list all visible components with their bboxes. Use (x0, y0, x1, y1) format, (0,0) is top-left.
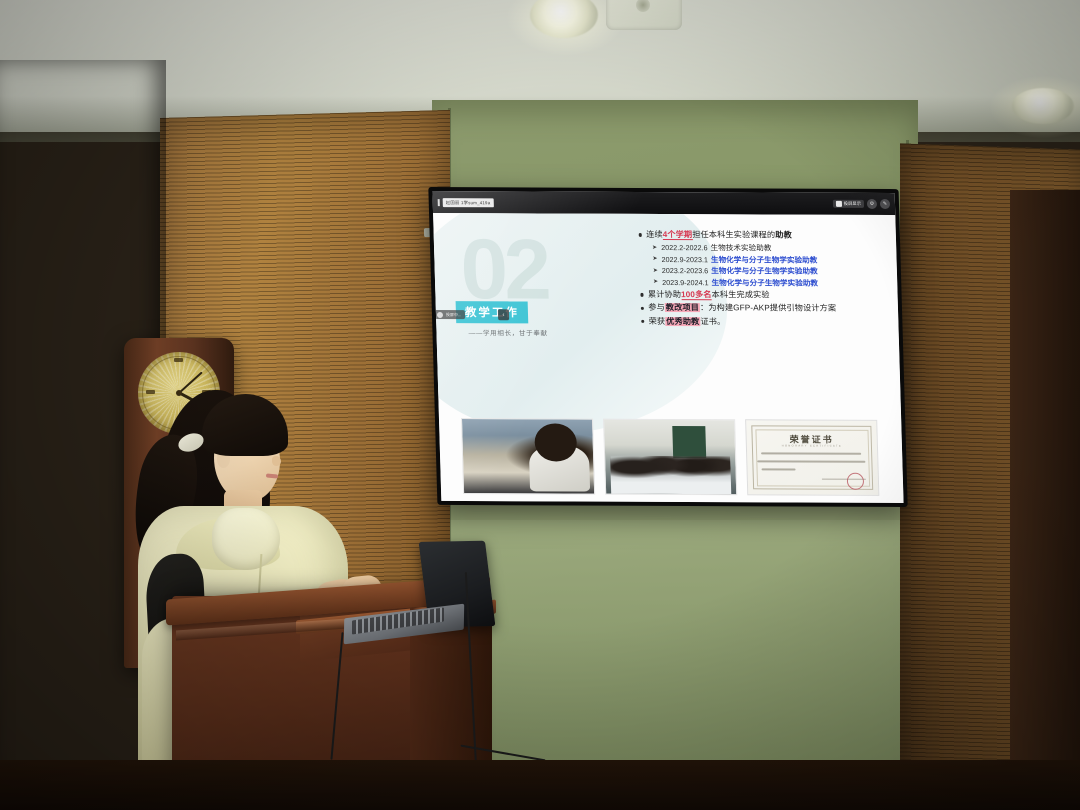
bullet-dot-icon (640, 293, 643, 296)
cast-status-label: 投屏中... (446, 312, 461, 317)
menu-icon[interactable] (438, 199, 440, 206)
certificate-seal-icon (847, 473, 864, 490)
arrow-icon: ➤ (652, 256, 657, 263)
dark-wood-panel-right (1010, 190, 1080, 810)
bullet-pre: 参与 (648, 303, 665, 312)
bullet-item: 参与教改项目：为构建GFP-AKP提供引物设计方案 (641, 303, 899, 314)
bullet-text: 荣获优秀助教证书。 (649, 317, 726, 327)
sub-bullet-item: ➤ 2022.2-2022.6 生物技术实验助教 (652, 243, 897, 253)
sub-bullet-course: 生物化学与分子生物学实验助教 (711, 255, 818, 264)
cast-icon (437, 312, 443, 318)
bullet-post: 担任本科生实验课程的 (692, 230, 775, 239)
presenter-collar (212, 508, 280, 570)
arrow-icon: ➤ (653, 268, 658, 275)
photo-strip: 荣誉证书 HONORARY CERTIFICATE (461, 418, 879, 496)
cast-status-overlay[interactable]: 投屏中... (433, 310, 465, 319)
sub-bullet-date: 2022.2-2022.6 (661, 243, 708, 252)
bullet-text: 累计协助100多名本科生完成实验 (648, 290, 770, 301)
display-screen[interactable]: 赵国丽 1学sum_419a 投屏显示 ⚙ ✎ 02 教学工作 ——学用相长，甘… (432, 191, 903, 503)
bullet-post: 证书。 (700, 317, 725, 326)
wall-display[interactable]: 赵国丽 1学sum_419a 投屏显示 ⚙ ✎ 02 教学工作 ——学用相长，甘… (428, 187, 907, 507)
sub-bullet-item: ➤ 2023.2-2023.6 生物化学与分子生物学实验助教 (653, 266, 898, 276)
slide-canvas: 02 教学工作 ——学用相长，甘于奉献 连续4个学期担任本科生实验课程的助教 ➤… (433, 213, 904, 503)
sub-bullet-date: 2022.9-2023.1 (661, 255, 708, 264)
bullet-dot-icon (641, 307, 644, 310)
bullet-item: 累计协助100多名本科生完成实验 (640, 290, 898, 301)
bullet-pre: 累计协助 (648, 290, 681, 299)
bullet-post: ：为构建GFP-AKP提供引物设计方案 (700, 304, 836, 314)
chevron-left-icon: ‹ (502, 312, 504, 318)
bullet-highlight: 4个学期 (663, 230, 693, 240)
arrow-icon: ➤ (652, 245, 657, 252)
presenter-nose (272, 456, 281, 466)
clock-marker (174, 358, 183, 362)
sub-bullet-course: 生物技术实验助教 (710, 244, 771, 253)
certificate-subtitle: HONORARY CERTIFICATE (747, 444, 877, 448)
floor (0, 760, 1080, 810)
prev-slide-button[interactable]: ‹ (498, 309, 509, 320)
gear-icon[interactable]: ⚙ (867, 199, 877, 209)
cast-button-label: 投屏显示 (844, 201, 861, 207)
sub-bullet-list: ➤ 2022.2-2022.6 生物技术实验助教 ➤ 2022.9-2023.1… (652, 243, 898, 288)
certificate-text-line (762, 468, 796, 470)
presentation-room-photo: 赵国丽 1学sum_419a 投屏显示 ⚙ ✎ 02 教学工作 ——学用相长，甘… (0, 0, 1080, 810)
bullet-tail: 助教 (775, 231, 792, 240)
bullet-highlight: 教改项目 (665, 303, 700, 312)
ceiling-light-square-icon (606, 0, 682, 30)
photo-lab (461, 418, 595, 495)
bullet-text: 参与教改项目：为构建GFP-AKP提供引物设计方案 (648, 303, 836, 314)
sub-bullet-date: 2023.9-2024.1 (662, 278, 709, 287)
bullet-pre: 荣获 (649, 317, 666, 326)
photo-certificate: 荣誉证书 HONORARY CERTIFICATE (745, 419, 879, 496)
sub-bullet-course: 生物化学与分子生物学实验助教 (711, 278, 818, 287)
bullet-post: 本科生完成实验 (711, 290, 769, 299)
bullet-text: 连续4个学期担任本科生实验课程的助教 (646, 230, 792, 241)
section-tag: 教学工作 (456, 301, 529, 323)
file-name-label: 赵国丽 1学sum_419a (443, 198, 494, 207)
section-subtitle: ——学用相长，甘于奉献 (468, 327, 547, 337)
sub-bullet-course: 生物化学与分子生物学实验助教 (711, 267, 818, 276)
bullet-item: 荣获优秀助教证书。 (641, 317, 899, 328)
bullet-item: 连续4个学期担任本科生实验课程的助教 (639, 230, 897, 241)
app-bar-left-group: 赵国丽 1学sum_419a (438, 198, 494, 207)
cast-button[interactable]: 投屏显示 (833, 200, 864, 208)
bullet-highlight: 优秀助教 (665, 317, 700, 326)
pen-icon[interactable]: ✎ (880, 199, 890, 209)
sub-bullet-item: ➤ 2022.9-2023.1 生物化学与分子生物学实验助教 (652, 255, 897, 265)
cast-icon (836, 201, 842, 207)
bullet-list: 连续4个学期担任本科生实验课程的助教 ➤ 2022.2-2022.6 生物技术实… (639, 230, 900, 331)
sub-bullet-date: 2023.2-2023.6 (662, 267, 709, 276)
bullet-dot-icon (641, 320, 644, 323)
arrow-icon: ➤ (653, 279, 658, 286)
app-bar-right-group: 投屏显示 ⚙ ✎ (833, 199, 891, 209)
display-app-bar[interactable]: 赵国丽 1学sum_419a 投屏显示 ⚙ ✎ (432, 191, 895, 215)
photo-teaching (603, 419, 737, 496)
bullet-highlight: 100多名 (681, 290, 712, 300)
sub-bullet-item: ➤ 2023.9-2024.1 生物化学与分子生物学实验助教 (653, 278, 898, 288)
section-number: 02 (460, 231, 549, 309)
bullet-dot-icon (639, 233, 642, 236)
bullet-pre: 连续 (646, 230, 663, 239)
